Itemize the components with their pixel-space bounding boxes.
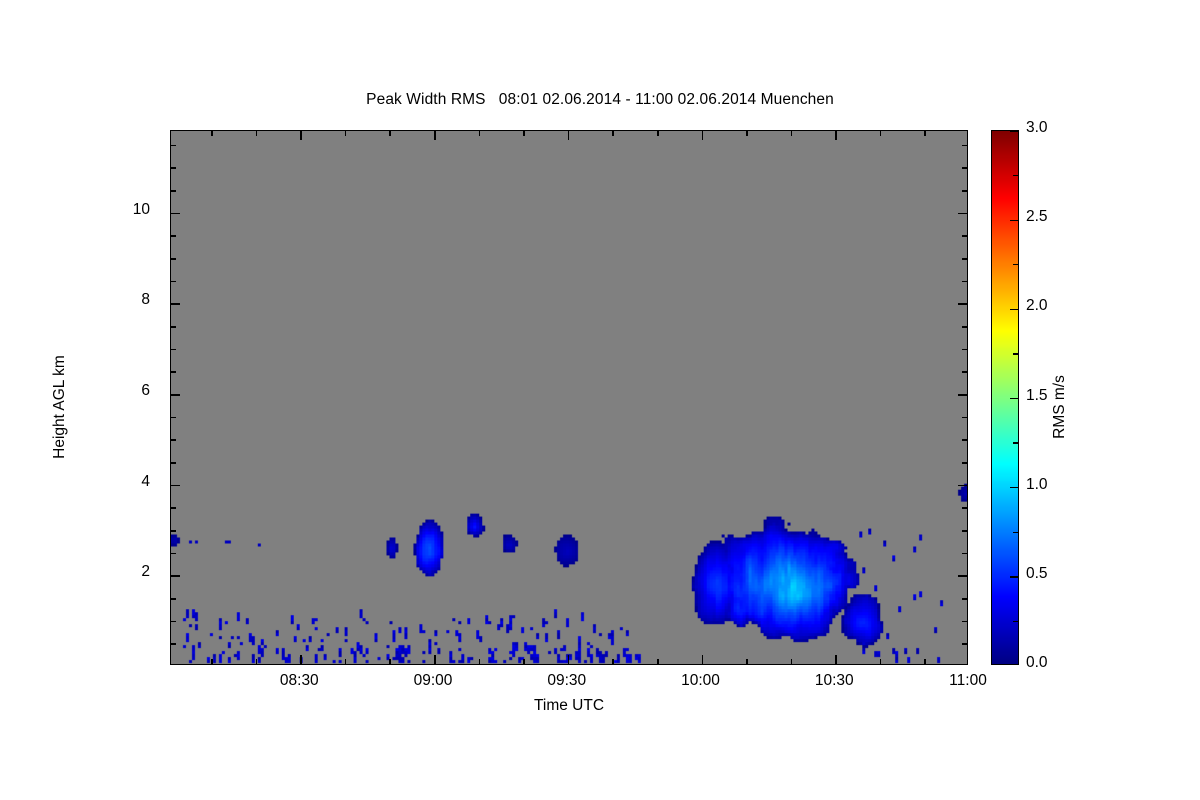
axis-tick [962, 507, 967, 509]
chart-title: Peak Width RMS 08:01 02.06.2014 - 11:00 … [0, 91, 1200, 109]
axis-tick [479, 131, 481, 136]
axis-tick [171, 394, 180, 396]
colorbar-tick [1010, 309, 1018, 310]
axis-tick [434, 655, 436, 664]
axis-tick [962, 281, 967, 283]
axis-tick [171, 462, 176, 464]
axis-tick [924, 659, 926, 664]
axis-tick [962, 235, 967, 237]
axis-tick [171, 349, 176, 351]
axis-tick [962, 598, 967, 600]
axis-tick [612, 659, 614, 664]
axis-tick [746, 659, 748, 664]
axis-tick [791, 659, 793, 664]
axis-tick [389, 659, 391, 664]
x-tick-label: 08:30 [239, 672, 359, 690]
axis-tick [657, 659, 659, 664]
axis-tick [568, 131, 570, 140]
axis-tick [171, 235, 176, 237]
colorbar-tick [1010, 487, 1018, 488]
axis-tick [171, 326, 176, 328]
axis-tick [171, 417, 176, 419]
colorbar[interactable] [991, 130, 1019, 665]
axis-tick [702, 655, 704, 664]
x-tick-label: 09:30 [507, 672, 627, 690]
colorbar-title: RMS m/s [1051, 287, 1069, 527]
chart-root: Peak Width RMS 08:01 02.06.2014 - 11:00 … [0, 0, 1200, 800]
axis-tick [962, 371, 967, 373]
x-tick-label: 09:00 [373, 672, 493, 690]
axis-tick [389, 131, 391, 136]
x-axis-title: Time UTC [170, 697, 968, 715]
y-tick-label: 4 [0, 473, 150, 491]
y-tick-label: 10 [0, 201, 150, 219]
axis-tick [835, 655, 837, 664]
axis-tick [962, 349, 967, 351]
axis-tick [345, 659, 347, 664]
heatmap-canvas [171, 131, 967, 664]
axis-tick [924, 131, 926, 136]
axis-tick [171, 371, 176, 373]
axis-tick [962, 417, 967, 419]
colorbar-tick-label: 3.0 [1026, 119, 1048, 137]
axis-tick [962, 190, 967, 192]
axis-tick [171, 507, 176, 509]
axis-tick [612, 131, 614, 136]
axis-tick [171, 167, 176, 169]
axis-tick [880, 131, 882, 136]
colorbar-tick-label: 0.0 [1026, 654, 1048, 672]
x-tick-label: 10:30 [774, 672, 894, 690]
plot-area[interactable] [170, 130, 968, 665]
colorbar-tick-label: 1.5 [1026, 387, 1048, 405]
axis-tick [958, 575, 967, 577]
colorbar-tick-label: 2.5 [1026, 208, 1048, 226]
axis-tick [171, 643, 176, 645]
axis-tick [171, 553, 176, 555]
axis-tick [958, 213, 967, 215]
axis-tick [171, 530, 176, 532]
axis-tick [479, 659, 481, 664]
axis-tick [171, 621, 176, 623]
colorbar-tick [1013, 175, 1018, 176]
colorbar-tick [1013, 353, 1018, 354]
colorbar-tick [1013, 442, 1018, 443]
colorbar-tick [1010, 576, 1018, 577]
y-axis-title: Height AGL km [51, 287, 69, 527]
y-tick-label: 2 [0, 563, 150, 581]
axis-tick [962, 326, 967, 328]
y-tick-label: 6 [0, 382, 150, 400]
axis-tick [835, 131, 837, 140]
axis-tick [171, 303, 180, 305]
colorbar-tick-label: 2.0 [1026, 297, 1048, 315]
axis-tick [962, 462, 967, 464]
axis-tick [523, 659, 525, 664]
axis-tick [345, 131, 347, 136]
y-tick-label: 8 [0, 291, 150, 309]
axis-tick [958, 394, 967, 396]
axis-tick [962, 145, 967, 147]
axis-tick [702, 131, 704, 140]
colorbar-tick [1013, 621, 1018, 622]
axis-tick [791, 131, 793, 136]
axis-tick [962, 167, 967, 169]
axis-tick [568, 655, 570, 664]
axis-tick [657, 131, 659, 136]
axis-tick [171, 439, 176, 441]
x-tick-label: 11:00 [908, 672, 1028, 690]
axis-tick [962, 258, 967, 260]
axis-tick [171, 281, 176, 283]
axis-tick [434, 131, 436, 140]
colorbar-tick [1010, 398, 1018, 399]
axis-tick [962, 553, 967, 555]
axis-tick [746, 131, 748, 136]
axis-tick [171, 598, 176, 600]
axis-tick [171, 485, 180, 487]
axis-tick [211, 659, 213, 664]
axis-tick [171, 190, 176, 192]
axis-tick [880, 659, 882, 664]
axis-tick [171, 213, 180, 215]
colorbar-tick [1010, 220, 1018, 221]
axis-tick [171, 258, 176, 260]
axis-tick [962, 439, 967, 441]
axis-tick [962, 643, 967, 645]
axis-tick [300, 655, 302, 664]
colorbar-tick-label: 1.0 [1026, 476, 1048, 494]
colorbar-tick [1013, 532, 1018, 533]
x-tick-label: 10:00 [641, 672, 761, 690]
axis-tick [523, 131, 525, 136]
axis-tick [962, 621, 967, 623]
axis-tick [962, 530, 967, 532]
axis-tick [256, 131, 258, 136]
axis-tick [958, 485, 967, 487]
colorbar-tick [1010, 130, 1018, 131]
colorbar-tick [1013, 264, 1018, 265]
axis-tick [171, 145, 176, 147]
axis-tick [211, 131, 213, 136]
axis-tick [171, 575, 180, 577]
axis-tick [256, 659, 258, 664]
axis-tick [958, 303, 967, 305]
colorbar-tick-label: 0.5 [1026, 565, 1048, 583]
axis-tick [300, 131, 302, 140]
